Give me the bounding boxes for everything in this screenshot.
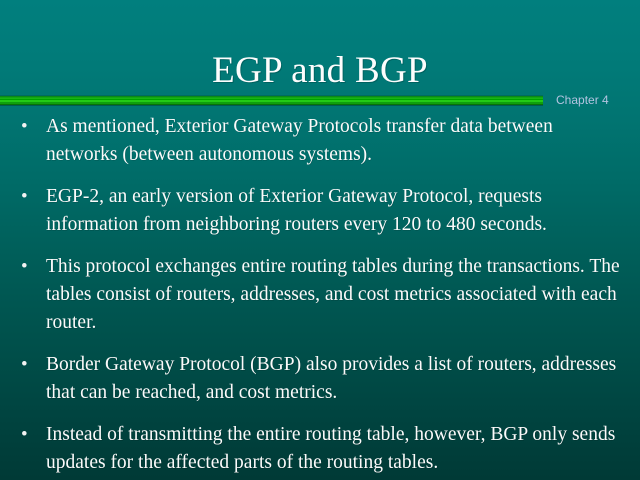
bullet-dot-icon: •	[21, 113, 31, 141]
bullet-dot-icon: •	[21, 351, 31, 379]
list-item-text: This protocol exchanges entire routing t…	[46, 253, 622, 337]
list-item: • Instead of transmitting the entire rou…	[0, 421, 640, 477]
chapter-label: Chapter 4	[556, 93, 609, 108]
list-item: • As mentioned, Exterior Gateway Protoco…	[0, 113, 640, 169]
title-divider-row: Chapter 4	[0, 93, 640, 109]
presentation-slide: EGP and BGP Chapter 4 • As mentioned, Ex…	[0, 0, 640, 480]
list-item-text: Instead of transmitting the entire routi…	[46, 421, 622, 477]
bullet-dot-icon: •	[21, 183, 31, 211]
list-item-text: EGP-2, an early version of Exterior Gate…	[46, 183, 622, 239]
green-divider-rule	[0, 95, 543, 106]
bullet-dot-icon: •	[21, 253, 31, 281]
list-item-text: Border Gateway Protocol (BGP) also provi…	[46, 351, 622, 407]
slide-bullet-list: • As mentioned, Exterior Gateway Protoco…	[0, 113, 640, 480]
list-item: • EGP-2, an early version of Exterior Ga…	[0, 183, 640, 239]
page-title: EGP and BGP	[212, 49, 428, 93]
bullet-dot-icon: •	[21, 421, 31, 449]
list-item: • This protocol exchanges entire routing…	[0, 253, 640, 337]
list-item-text: As mentioned, Exterior Gateway Protocols…	[46, 113, 622, 169]
list-item: • Border Gateway Protocol (BGP) also pro…	[0, 351, 640, 407]
